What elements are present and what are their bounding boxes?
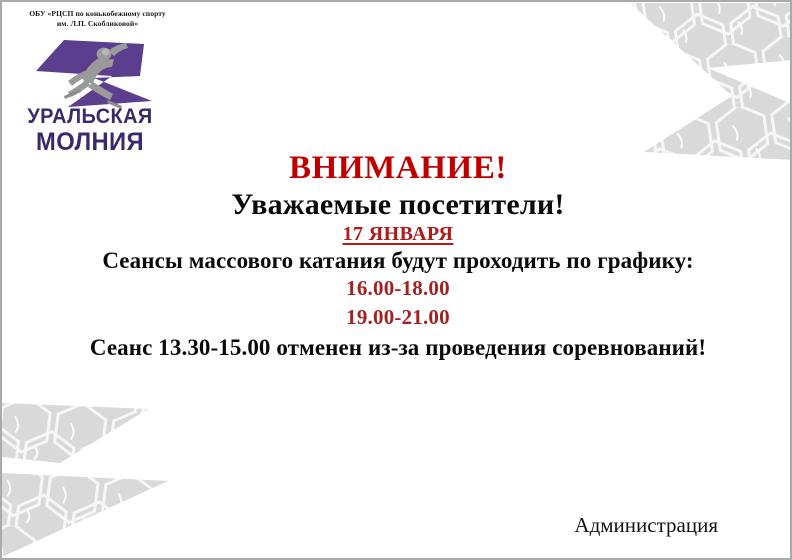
signature: Администрация	[574, 513, 718, 538]
attention-heading: ВНИМАНИЕ!	[2, 152, 792, 185]
club-name-line-1: УРАЛЬСКАЯ	[24, 106, 157, 128]
organisation-header: ОБУ «РЦСП по конькобежному спорту им. Л.…	[10, 9, 185, 30]
session-time-2: 19.00-21.00	[2, 307, 792, 328]
session-time-1: 16.00-18.00	[2, 278, 792, 299]
organisation-header-line-2: им. Л.П. Скобликовой»	[10, 19, 185, 29]
announcement-body: ВНИМАНИЕ! Уважаемые посетители! 17 ЯНВАР…	[2, 152, 792, 359]
cancellation-notice: Сеанс 13.30-15.00 отменен из-за проведен…	[2, 336, 792, 359]
honeycomb-lightning-bolt-icon	[0, 395, 210, 560]
announcement-poster: ОБУ «РЦСП по конькобежному спорту им. Л.…	[0, 0, 792, 560]
schedule-intro: Сеансы массового катания будут проходить…	[2, 249, 792, 272]
greeting-heading: Уважаемые посетители!	[2, 190, 792, 220]
club-logo: УРАЛЬСКАЯ МОЛНИЯ	[20, 38, 160, 156]
club-wordmark: УРАЛЬСКАЯ МОЛНИЯ	[20, 106, 160, 156]
notice-date: 17 ЯНВАРЯ	[343, 224, 454, 244]
organisation-header-line-1: ОБУ «РЦСП по конькобежному спорту	[10, 9, 185, 19]
notice-date-row: 17 ЯНВАРЯ	[2, 224, 792, 244]
lightning-bolt-skater-icon	[20, 38, 160, 110]
honeycomb-lightning-bolt-icon	[582, 0, 792, 165]
